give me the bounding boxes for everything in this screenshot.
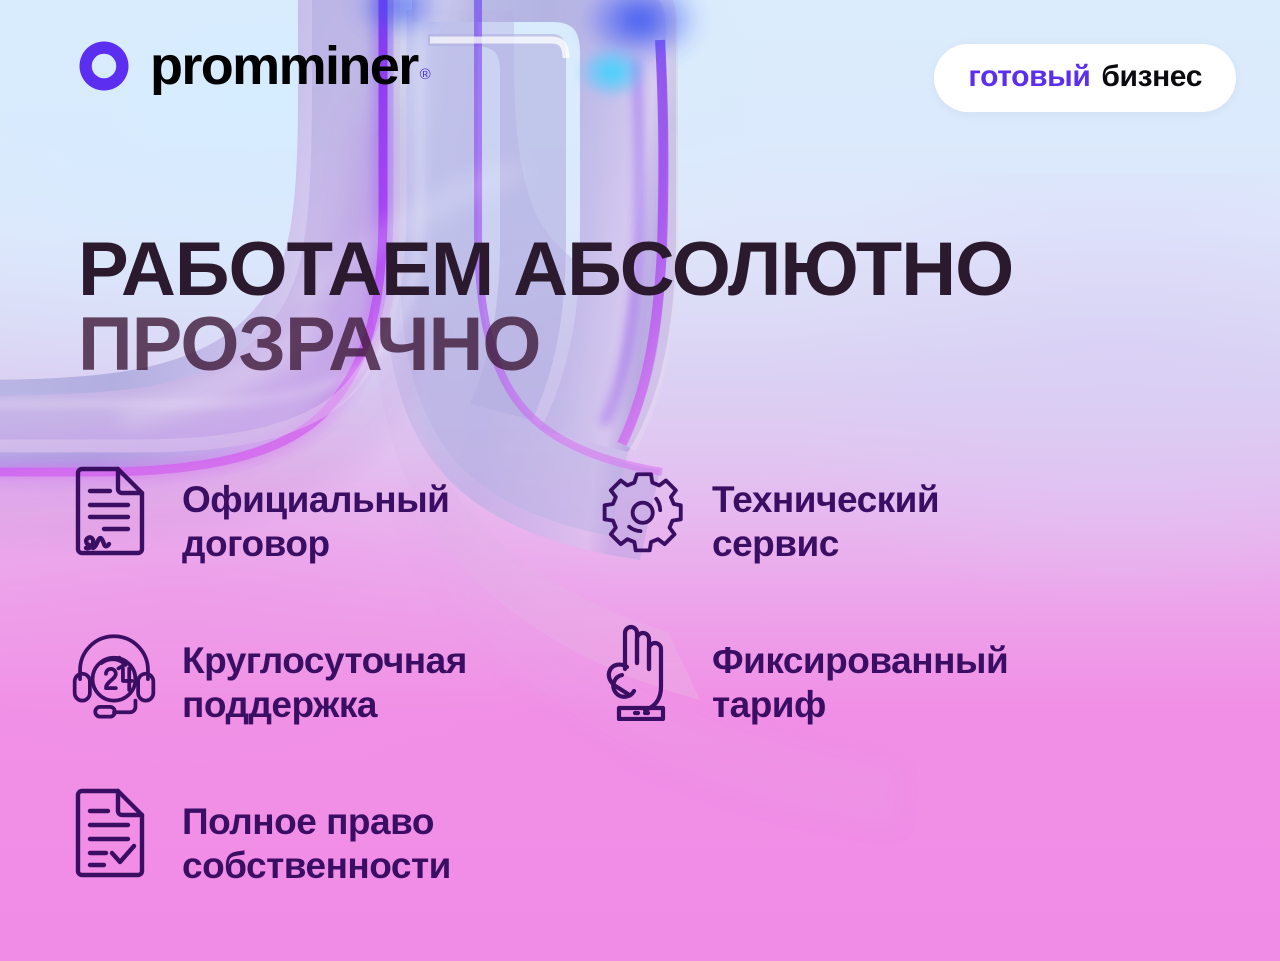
feature-list: Официальный договор Технический сервис xyxy=(72,462,1152,945)
feature-item-full-ownership: Полное право собственности xyxy=(72,784,602,945)
feature-label: Технический сервис xyxy=(712,462,939,565)
checklist-document-icon xyxy=(72,784,156,882)
brand-wordmark: promminer ® xyxy=(150,39,431,93)
feature-label: Фиксированный тариф xyxy=(712,623,1008,726)
contract-document-signature-icon xyxy=(72,462,156,560)
feature-item-technical-service: Технический сервис xyxy=(602,462,1102,623)
badge-plain-word: бизнес xyxy=(1101,60,1202,94)
badge-accent-word: готовый xyxy=(968,60,1090,94)
promminer-logo-icon xyxy=(76,38,132,94)
registered-trademark-icon: ® xyxy=(420,67,431,82)
headline-line-2: ПРОЗРАЧНО xyxy=(78,307,1013,382)
headset-24-support-icon xyxy=(72,623,156,721)
ok-hand-gesture-icon xyxy=(602,623,686,721)
feature-item-official-contract: Официальный договор xyxy=(72,462,602,623)
feature-item-fixed-tariff: Фиксированный тариф xyxy=(602,623,1102,784)
banner-header: promminer ® готовый бизнес xyxy=(0,0,1280,140)
feature-label: Официальный договор xyxy=(182,462,449,565)
page-title: РАБОТАЕМ АБСОЛЮТНО ПРОЗРАЧНО xyxy=(78,232,1013,382)
promo-banner: promminer ® готовый бизнес РАБОТАЕМ АБСО… xyxy=(0,0,1280,961)
headline-line-1: РАБОТАЕМ АБСОЛЮТНО xyxy=(78,232,1013,307)
feature-item-24-7-support: Круглосуточная поддержка xyxy=(72,623,602,784)
gear-service-icon xyxy=(602,462,686,560)
feature-label: Круглосуточная поддержка xyxy=(182,623,467,726)
brand-logo[interactable]: promminer ® xyxy=(76,38,431,94)
brand-name-text: promminer xyxy=(150,39,418,93)
ready-business-badge[interactable]: готовый бизнес xyxy=(934,44,1236,112)
feature-label: Полное право собственности xyxy=(182,784,451,887)
